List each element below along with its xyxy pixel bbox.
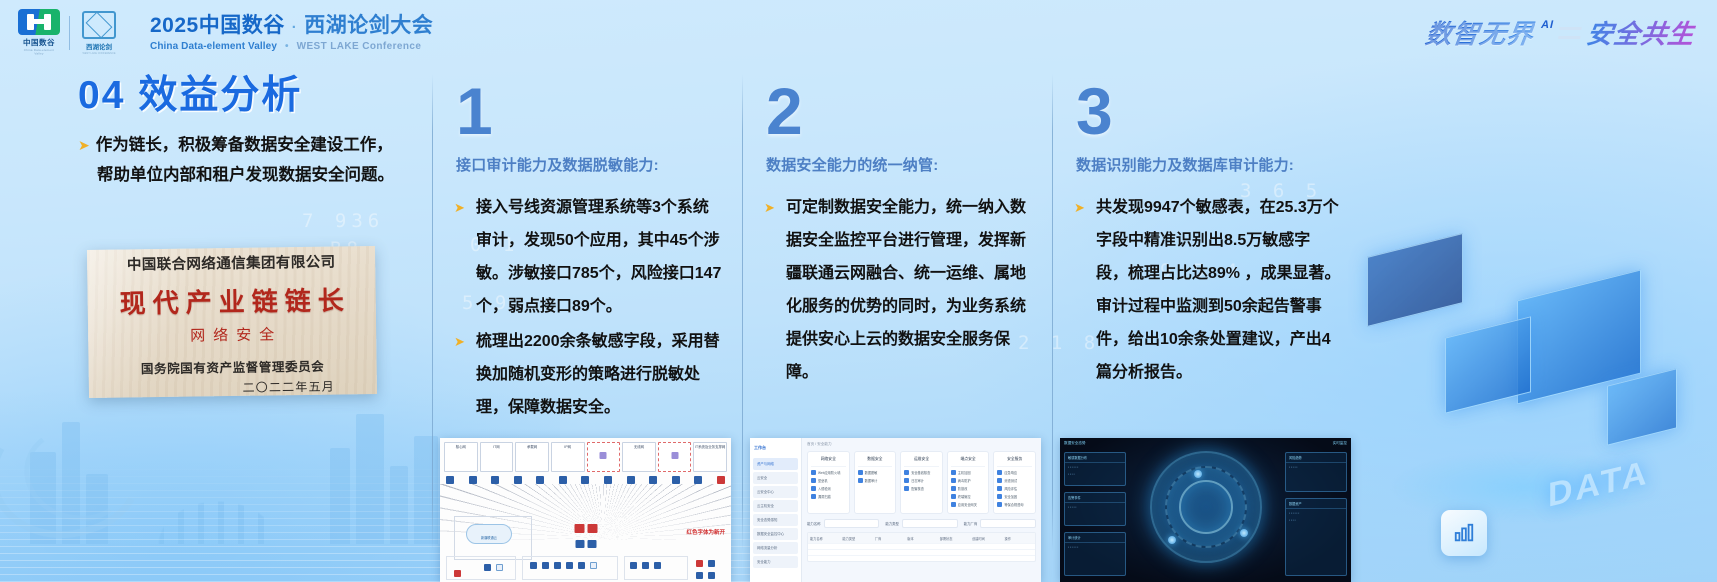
plaque-main-title: 现代产业链链长 xyxy=(112,280,351,320)
filter-label: 能力名称 xyxy=(807,521,821,526)
table-header-cell: 能力类型 xyxy=(840,533,872,543)
column-heading-3: 数据识别能力及数据库审计能力: xyxy=(1076,154,1362,175)
dashboard-panel[interactable]: 敏感数据分布 ▪ ▪ ▪ ▪ ▪ ▪ ▪ ▪ ▪ ▪ xyxy=(1064,452,1126,486)
content-column-2: 2 数据安全能力的统一纳管: ➤ 可定制数据安全能力，统一纳入数据安全监控平台进… xyxy=(742,58,1052,582)
bullet-item: ➤ 共发现9947个敏感表，在25.3万个字段中精准识别出8.5万敏感字段，梳理… xyxy=(1074,191,1342,389)
section-number: 04 xyxy=(78,74,125,117)
dashboard-panel-line: ▪ ▪ ▪ ▪ ▪ ▪ xyxy=(1065,463,1125,470)
bullet-arrow-icon: ➤ xyxy=(1074,191,1085,224)
table-row[interactable] xyxy=(808,549,1035,555)
capability-card-title: 端点安全 xyxy=(951,455,986,467)
dashboard-node-glow xyxy=(1168,536,1176,544)
topology-canvas: 核心网 IT网 承载网 IP网 无线网 IT系统及业务支撑网 xyxy=(440,438,731,582)
slogan-part-1: 数智无界 xyxy=(1423,14,1536,51)
event-subtitle-main: China Data-element Valley xyxy=(150,41,277,52)
event-title-main-line: 2025中国数谷 · 西湖论剑大会 xyxy=(150,9,433,39)
column-divider xyxy=(1052,74,1053,552)
valley-logo-mark xyxy=(18,9,60,35)
column-number-2: 2 xyxy=(766,78,1052,144)
filter-input[interactable] xyxy=(902,519,958,528)
capability-item-label: 风险评估 xyxy=(1004,486,1017,491)
plaque-organization: 中国联合网络通信集团有限公司 xyxy=(127,250,336,274)
topology-zone-band: 核心网 IT网 承载网 IP网 无线网 IT系统及业务支撑网 xyxy=(444,442,727,472)
capability-card-title: 运维安全 xyxy=(904,455,939,467)
capability-item-label: 应急响应 xyxy=(1004,470,1017,475)
bullet-arrow-icon: ➤ xyxy=(454,191,465,224)
dashboard-panel[interactable]: 审计统计 ▪ ▪ ▪ ▪ ▪ ▪ xyxy=(1064,532,1126,576)
capability-item-label: 主机加固 xyxy=(958,470,971,475)
dashboard-ring-inner xyxy=(1179,480,1233,534)
capability-item[interactable]: 应急响应 xyxy=(997,470,1032,475)
capability-item[interactable]: 主机加固 xyxy=(951,470,986,475)
column-body-3: ➤ 共发现9947个敏感表，在25.3万个字段中精准识别出8.5万敏感字段，梳理… xyxy=(1074,191,1342,389)
dashboard-title-right: 实时监控 xyxy=(1333,441,1347,446)
west-lake-logo: 西湖论剑 WEST LAKE CONFERENCE xyxy=(79,11,119,55)
filter-label: 能力类型 xyxy=(885,521,899,526)
capability-item-label: 数据审计 xyxy=(865,478,878,483)
filter-label: 能力厂商 xyxy=(964,521,978,526)
data-security-dashboard-screenshot[interactable]: 数据安全态势 实时监控 敏感数据分布 ▪ ▪ ▪ ▪ ▪ ▪ ▪ ▪ ▪ ▪ 告… xyxy=(1060,438,1351,582)
column-number-1: 1 xyxy=(456,78,742,144)
slogan-ai-tag: AI xyxy=(1541,19,1554,31)
section-title-text: 效益分析 xyxy=(138,74,302,117)
page-title: 04效益分析 xyxy=(78,64,302,120)
bullet-text: 接入号线资源管理系统等3个系统审计，发现50个应用，其中45个涉敏。涉敏接口78… xyxy=(476,199,721,315)
capability-card-title: 网络安全 xyxy=(811,455,846,467)
topology-zone: IT系统及业务支撑网 xyxy=(693,442,727,472)
topology-zone xyxy=(587,442,621,472)
column-divider xyxy=(742,74,743,552)
west-lake-logo-en: WEST LAKE CONFERENCE xyxy=(82,51,116,54)
event-title-main: 2025中国数谷 xyxy=(150,9,285,39)
plaque-subtitle: 网络安全 xyxy=(182,323,282,345)
topology-lower-layer xyxy=(444,556,727,580)
console-sidebar-item[interactable]: 数据安全监控中心 xyxy=(753,528,798,540)
console-table: 能力名称 能力类型 厂商 版本 部署状态 创建时间 操作 xyxy=(807,532,1036,562)
dashboard-panel-title: 敏感数据分布 xyxy=(1065,453,1125,463)
dashboard-panel-line: ▪ ▪ ▪ ▪ ▪ ▪ xyxy=(1286,509,1346,516)
topology-zone: IP网 xyxy=(551,442,585,472)
topology-core-nodes xyxy=(574,524,597,533)
dashboard-panel-line: ▪ ▪ ▪ ▪ xyxy=(1065,470,1125,477)
console-sidebar-item[interactable]: 安全能力 xyxy=(753,556,798,568)
capability-item-label: 配置核查 xyxy=(911,486,924,491)
slogan-equals-mark xyxy=(1558,27,1582,39)
event-subtitle-line: China Data-element Valley • WEST LAKE Co… xyxy=(150,41,433,52)
topology-cloud-node: 新疆联通云 xyxy=(466,524,512,544)
dashboard-panel-line: ▪ ▪ ▪ ▪ ▪ xyxy=(1286,463,1346,470)
console-sidebar[interactable]: 工作台 资产与网络 云安全 云安全中心 云主机安全 安全态势感知 数据安全监控中… xyxy=(750,438,802,582)
table-header-cell: 创建时间 xyxy=(970,533,1002,543)
capability-card[interactable]: 端点安全 主机加固 病毒防护 防篡改 终端管控 应用安全网关 xyxy=(947,451,990,514)
bullet-item: ➤ 梳理出2200余条敏感字段，采用替换加随机变形的策略进行脱敏处理，保障数据安… xyxy=(454,325,722,424)
topology-zone: 核心网 xyxy=(444,442,478,472)
bullet-text: 共发现9947个敏感表，在25.3万个字段中精准识别出8.5万敏感字段，梳理占比… xyxy=(1096,199,1340,381)
content-columns: 1 接口审计能力及数据脱敏能力: ➤ 接入号线资源管理系统等3个系统审计，发现5… xyxy=(432,58,1717,582)
console-sidebar-item[interactable]: 云主机安全 xyxy=(753,500,798,512)
filter-group: 能力名称 xyxy=(807,519,879,528)
capability-item-label: 防篡改 xyxy=(958,486,968,491)
plaque-issuer: 国务院国有资产监督管理委员会 xyxy=(141,355,325,377)
console-breadcrumb: 首页 / 安全能力 xyxy=(807,442,1036,447)
logo-divider xyxy=(69,16,70,50)
content-column-1: 1 接口审计能力及数据脱敏能力: ➤ 接入号线资源管理系统等3个系统审计，发现5… xyxy=(432,58,742,582)
filter-group: 能力厂商 xyxy=(964,519,1036,528)
console-sidebar-item[interactable]: 网络流量分析 xyxy=(753,542,798,554)
console-sidebar-item[interactable]: 云安全中心 xyxy=(753,486,798,498)
capability-item[interactable]: 堡垒机 xyxy=(811,478,846,483)
table-header-cell: 能力名称 xyxy=(808,533,840,543)
topology-core-nodes-2 xyxy=(575,540,596,548)
capability-item[interactable]: 安全基线核查 xyxy=(904,470,939,475)
capability-item[interactable]: 应用安全网关 xyxy=(951,502,986,507)
bullet-item: ➤ 接入号线资源管理系统等3个系统审计，发现50个应用，其中45个涉敏。涉敏接口… xyxy=(454,191,722,323)
china-data-valley-logo: 中国数谷 China Data-element Valley xyxy=(18,9,60,56)
capability-item[interactable]: 安全加固 xyxy=(997,494,1032,499)
capability-item-label: 入侵检测 xyxy=(818,486,831,491)
topology-zone: IT网 xyxy=(480,442,514,472)
capability-card-title: 数据安全 xyxy=(858,455,893,467)
capability-item-label: 日志审计 xyxy=(911,478,924,483)
capability-card[interactable]: 运维安全 安全基线核查 日志审计 配置核查 xyxy=(900,451,943,514)
capability-card[interactable]: 安全服务 应急响应 渗透测试 风险评估 安全加固 等保合规咨询 xyxy=(993,451,1036,514)
column-divider xyxy=(432,74,433,552)
capability-item[interactable]: 病毒防护 xyxy=(951,478,986,483)
west-lake-logo-cn: 西湖论剑 xyxy=(79,41,119,51)
dashboard-panel-line: ▪ ▪ ▪ ▪ xyxy=(1286,516,1346,523)
capability-item-label: 安全基线核查 xyxy=(911,470,930,475)
dashboard-panel-title: 风险趋势 xyxy=(1286,453,1346,463)
bullet-arrow-icon: ➤ xyxy=(78,137,90,153)
valley-logo-en: China Data-element Valley xyxy=(20,48,58,55)
dashboard-title-left: 数据安全态势 xyxy=(1064,441,1086,446)
event-title: 2025中国数谷 · 西湖论剑大会 China Data-element Val… xyxy=(150,9,433,52)
capability-item-label: 数据脱敏 xyxy=(865,470,878,475)
console-logo: 工作台 xyxy=(750,442,801,456)
lead-line-1: 作为链长，积极筹备数据安全建设工作， xyxy=(96,136,393,154)
filter-input[interactable] xyxy=(980,519,1036,528)
capability-item-label: 渗透测试 xyxy=(1004,478,1017,483)
event-title-lake: 西湖论剑大会 xyxy=(304,9,433,39)
bullet-arrow-icon: ➤ xyxy=(454,325,465,358)
filter-input[interactable] xyxy=(824,519,880,528)
logo-group: 中国数谷 China Data-element Valley 西湖论剑 WEST… xyxy=(18,9,119,56)
capability-item[interactable]: 等保合规咨询 xyxy=(997,502,1032,507)
capability-item-label: 病毒防护 xyxy=(958,478,971,483)
capability-item-label: Web应用防火墙 xyxy=(818,470,840,475)
capability-item[interactable]: 入侵检测 xyxy=(811,486,846,491)
page-header: 中国数谷 China Data-element Valley 西湖论剑 WEST… xyxy=(0,0,1717,56)
table-header-row: 能力名称 能力类型 厂商 版本 部署状态 创建时间 操作 xyxy=(808,533,1035,543)
capability-item[interactable]: 数据脱敏 xyxy=(858,470,893,475)
capability-item[interactable]: 防篡改 xyxy=(951,486,986,491)
event-subtitle-sep: • xyxy=(285,41,289,52)
console-sidebar-item[interactable]: 云安全 xyxy=(753,472,798,484)
capability-item-label: 应用安全网关 xyxy=(958,502,977,507)
slogan-part-2: 安全共生 xyxy=(1584,14,1697,51)
column-body-1: ➤ 接入号线资源管理系统等3个系统审计，发现50个应用，其中45个涉敏。涉敏接口… xyxy=(454,191,722,424)
west-lake-logo-mark xyxy=(82,11,116,39)
capability-card[interactable]: 网络安全 Web应用防火墙 堡垒机 入侵检测 漏洞扫描 xyxy=(807,451,850,514)
console-main: 首页 / 安全能力 网络安全 Web应用防火墙 堡垒机 入侵检测 漏洞扫描 数据… xyxy=(802,438,1041,582)
dashboard-panel[interactable]: 数据资产 ▪ ▪ ▪ ▪ ▪ ▪ ▪ ▪ ▪ ▪ xyxy=(1285,498,1347,576)
topology-zone xyxy=(658,442,692,472)
table-row[interactable] xyxy=(808,543,1035,549)
bullet-text: 可定制数据安全能力，统一纳入数据安全监控平台进行管理，发挥新疆联通云网融合、统一… xyxy=(786,199,1026,381)
console-ui: 工作台 资产与网络 云安全 云安全中心 云主机安全 安全态势感知 数据安全监控中… xyxy=(750,438,1041,582)
event-subtitle-lake: WEST LAKE Conference xyxy=(297,41,422,52)
content-column-3: 3 数据识别能力及数据库审计能力: ➤ 共发现9947个敏感表，在25.3万个字… xyxy=(1052,58,1362,582)
dashboard-panel-line: ▪ ▪ ▪ ▪ ▪ xyxy=(1065,503,1125,510)
event-title-dot: · xyxy=(292,19,298,36)
bullet-item: ➤ 可定制数据安全能力，统一纳入数据安全监控平台进行管理，发挥新疆联通云网融合、… xyxy=(764,191,1032,389)
capability-item[interactable]: Web应用防火墙 xyxy=(811,470,846,475)
dashboard-canvas: 数据安全态势 实时监控 敏感数据分布 ▪ ▪ ▪ ▪ ▪ ▪ ▪ ▪ ▪ ▪ 告… xyxy=(1060,438,1351,582)
console-sidebar-item[interactable]: 资产与网络 xyxy=(753,458,798,470)
console-capability-cards: 网络安全 Web应用防火墙 堡垒机 入侵检测 漏洞扫描 数据安全 数据脱敏 数据… xyxy=(807,451,1036,514)
award-plaque-photo: 中国联合网络通信集团有限公司 现代产业链链长 网络安全 国务院国有资产监督管理委… xyxy=(87,246,377,398)
bullet-text: 梳理出2200余条敏感字段，采用替换加随机变形的策略进行脱敏处理，保障数据安全。 xyxy=(476,333,720,416)
capability-item[interactable]: 漏洞扫描 xyxy=(811,494,846,499)
topology-legend-note: 红色字体为新开 xyxy=(686,528,725,536)
dashboard-panel[interactable]: 风险趋势 ▪ ▪ ▪ ▪ ▪ xyxy=(1285,452,1347,492)
dashboard-panel-title: 数据资产 xyxy=(1286,499,1346,509)
capability-item-label: 漏洞扫描 xyxy=(818,494,831,499)
plaque-date: 二〇二二年五月 xyxy=(242,377,335,395)
column-number-3: 3 xyxy=(1076,78,1362,144)
left-intro-column: 04效益分析 ➤作为链长，积极筹备数据安全建设工作， 帮助单位内部和租户发现数据… xyxy=(0,52,430,582)
capability-item[interactable]: 日志审计 xyxy=(904,478,939,483)
capability-item-label: 终端管控 xyxy=(958,494,971,499)
dashboard-panel-title: 审计统计 xyxy=(1065,533,1125,543)
topology-zone: 无线网 xyxy=(622,442,656,472)
capability-item[interactable]: 终端管控 xyxy=(951,494,986,499)
table-header-cell: 操作 xyxy=(1003,533,1035,543)
network-topology-diagram[interactable]: 核心网 IT网 承载网 IP网 无线网 IT系统及业务支撑网 xyxy=(440,438,731,582)
lead-line-2: 帮助单位内部和租户发现数据安全问题。 xyxy=(97,160,418,190)
capability-card-title: 安全服务 xyxy=(997,455,1032,467)
table-row[interactable] xyxy=(808,555,1035,561)
column-heading-1: 接口审计能力及数据脱敏能力: xyxy=(456,154,742,175)
capability-item[interactable]: 配置核查 xyxy=(904,486,939,491)
capability-item-label: 安全加固 xyxy=(1004,494,1017,499)
conference-slogan: 数智无界 AI 安全共生 xyxy=(1423,14,1697,51)
capability-item[interactable]: 渗透测试 xyxy=(997,478,1032,483)
capability-item-label: 等保合规咨询 xyxy=(1004,502,1023,507)
dashboard-panel[interactable]: 告警事件 ▪ ▪ ▪ ▪ ▪ xyxy=(1064,492,1126,526)
console-sidebar-item[interactable]: 安全态势感知 xyxy=(753,514,798,526)
table-header-cell: 版本 xyxy=(905,533,937,543)
lead-paragraph: ➤作为链长，积极筹备数据安全建设工作， 帮助单位内部和租户发现数据安全问题。 xyxy=(78,130,418,190)
table-header-cell: 厂商 xyxy=(873,533,905,543)
capability-item-label: 堡垒机 xyxy=(818,478,828,483)
filter-group: 能力类型 xyxy=(885,519,957,528)
topology-zone: 承载网 xyxy=(515,442,549,472)
column-heading-2: 数据安全能力的统一纳管: xyxy=(766,154,1052,175)
capability-card[interactable]: 数据安全 数据脱敏 数据审计 xyxy=(854,451,897,514)
valley-logo-cn: 中国数谷 xyxy=(18,37,60,48)
dashboard-node-glow xyxy=(1194,470,1202,478)
dashboard-panel-line: ▪ ▪ ▪ ▪ ▪ ▪ xyxy=(1065,543,1125,550)
table-header-cell: 部署状态 xyxy=(938,533,970,543)
security-console-screenshot[interactable]: 工作台 资产与网络 云安全 云安全中心 云主机安全 安全态势感知 数据安全监控中… xyxy=(750,438,1041,582)
capability-item[interactable]: 风险评估 xyxy=(997,486,1032,491)
bullet-arrow-icon: ➤ xyxy=(764,191,775,224)
console-filter-bar: 能力名称 能力类型 能力厂商 xyxy=(807,519,1036,528)
capability-item[interactable]: 数据审计 xyxy=(858,478,893,483)
column-body-2: ➤ 可定制数据安全能力，统一纳入数据安全监控平台进行管理，发挥新疆联通云网融合、… xyxy=(764,191,1032,389)
dashboard-panel-title: 告警事件 xyxy=(1065,493,1125,503)
